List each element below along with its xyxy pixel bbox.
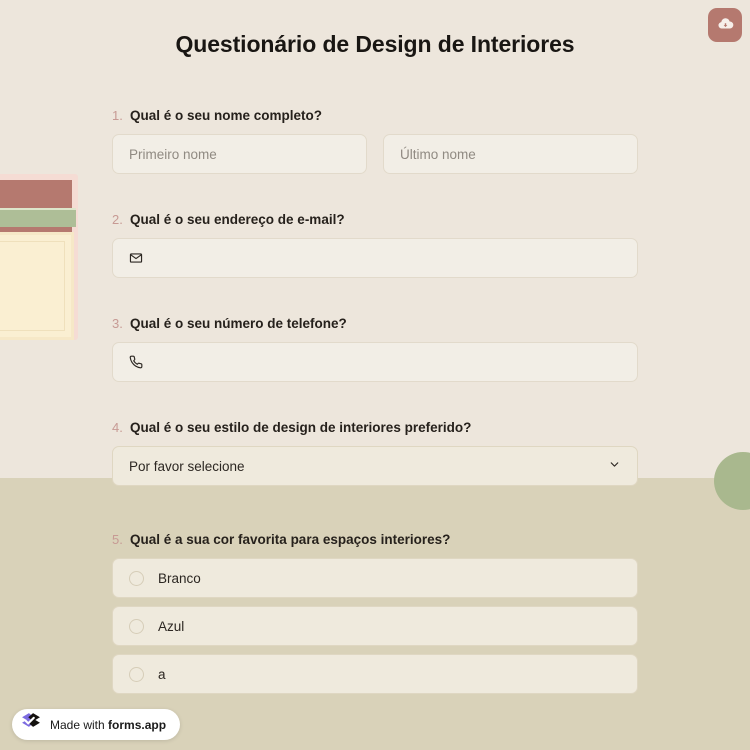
question-number: 3.	[112, 316, 123, 331]
name-field-row: Primeiro nome Último nome	[112, 134, 638, 174]
spacer	[112, 382, 638, 420]
radio-option-label: Azul	[158, 619, 184, 634]
radio-option-label: Branco	[158, 571, 201, 586]
style-select[interactable]: Por favor selecione	[112, 446, 638, 486]
question-block-color: 5. Qual é a sua cor favorita para espaço…	[112, 532, 638, 694]
question-block-style: 4. Qual é o seu estilo de design de inte…	[112, 420, 638, 486]
envelope-icon	[129, 251, 143, 265]
spacer	[112, 174, 638, 212]
question-number: 4.	[112, 420, 123, 435]
question-block-email: 2. Qual é o seu endereço de e-mail?	[112, 212, 638, 278]
form-scroll-area[interactable]: Questionário de Design de Interiores 1. …	[0, 0, 750, 750]
radio-option-label: a	[158, 667, 166, 682]
question-block-name: 1. Qual é o seu nome completo? Primeiro …	[112, 108, 638, 174]
forms-app-logo-icon	[20, 711, 42, 738]
spacer	[112, 486, 638, 532]
question-text: Qual é o seu número de telefone?	[130, 316, 347, 331]
question-text: Qual é o seu endereço de e-mail?	[130, 212, 345, 227]
question-text: Qual é o seu nome completo?	[130, 108, 322, 123]
question-label: 1. Qual é o seu nome completo?	[112, 108, 638, 123]
badge-prefix: Made with	[50, 718, 108, 732]
style-select-value: Por favor selecione	[129, 459, 245, 474]
question-label: 4. Qual é o seu estilo de design de inte…	[112, 420, 638, 435]
forms-app-badge[interactable]: Made with forms.app	[12, 709, 180, 740]
radio-circle-icon	[129, 667, 144, 682]
page-title: Questionário de Design de Interiores	[0, 31, 750, 58]
question-label: 2. Qual é o seu endereço de e-mail?	[112, 212, 638, 227]
forms-app-badge-text: Made with forms.app	[50, 718, 166, 732]
question-label: 3. Qual é o seu número de telefone?	[112, 316, 638, 331]
chevron-down-icon	[608, 458, 621, 474]
first-name-input[interactable]: Primeiro nome	[112, 134, 367, 174]
email-input[interactable]	[112, 238, 638, 278]
question-text: Qual é a sua cor favorita para espaços i…	[130, 532, 450, 547]
badge-brand: forms.app	[108, 718, 166, 732]
question-list: 1. Qual é o seu nome completo? Primeiro …	[112, 108, 638, 702]
question-label: 5. Qual é a sua cor favorita para espaço…	[112, 532, 638, 547]
phone-input[interactable]	[112, 342, 638, 382]
spacer	[112, 278, 638, 316]
radio-option-1[interactable]: Branco	[112, 558, 638, 598]
radio-circle-icon	[129, 571, 144, 586]
question-number: 2.	[112, 212, 123, 227]
question-text: Qual é o seu estilo de design de interio…	[130, 420, 471, 435]
radio-option-3[interactable]: a	[112, 654, 638, 694]
question-number: 5.	[112, 532, 123, 547]
question-block-phone: 3. Qual é o seu número de telefone?	[112, 316, 638, 382]
question-number: 1.	[112, 108, 123, 123]
phone-icon	[129, 355, 143, 369]
last-name-input[interactable]: Último nome	[383, 134, 638, 174]
radio-option-2[interactable]: Azul	[112, 606, 638, 646]
radio-circle-icon	[129, 619, 144, 634]
